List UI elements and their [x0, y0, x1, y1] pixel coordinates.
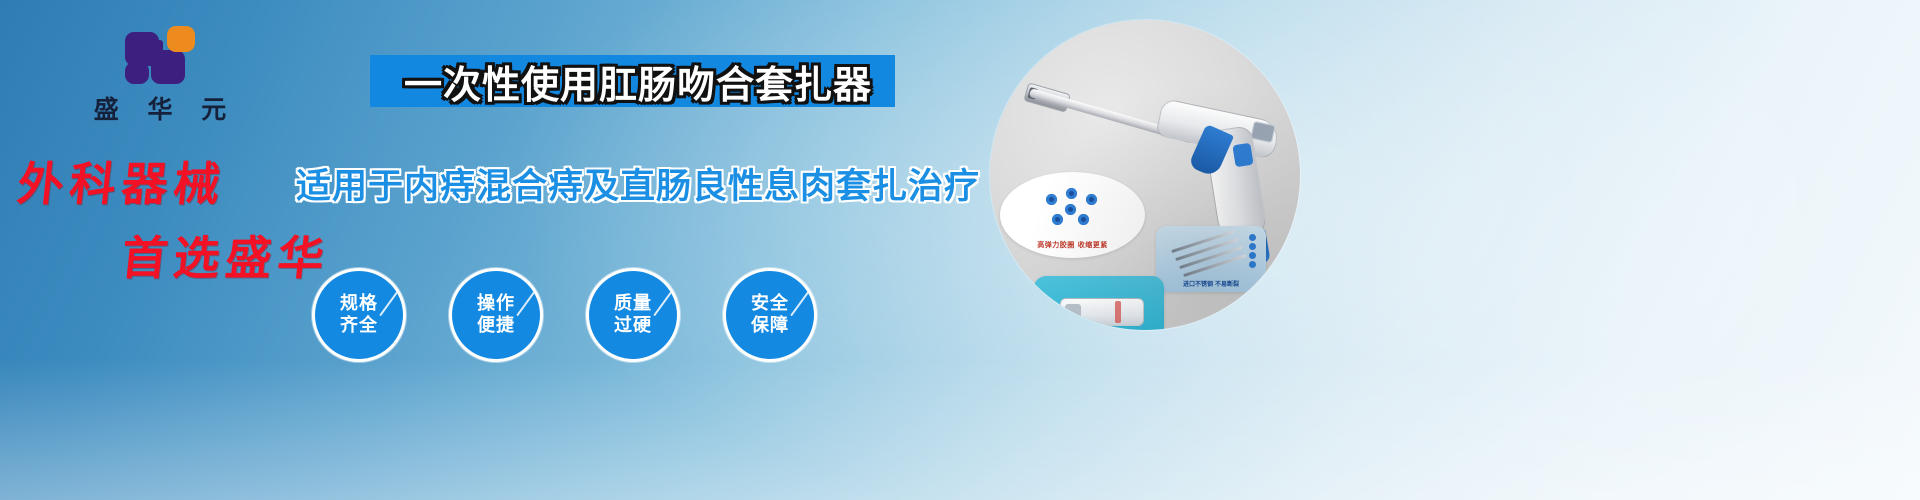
feature-badge-2-line1: 操作: [477, 293, 515, 315]
subtitle: 适用于内痔混合痔及直肠良性息肉套扎治疗: [296, 158, 916, 209]
feature-badge-3[interactable]: 质量 过硬: [586, 268, 680, 362]
brand-logo[interactable]: 盛 华 元: [62, 26, 258, 126]
feature-badge-4-line1: 安全: [751, 293, 789, 315]
shenghuayuan-block-logo-icon: [125, 26, 195, 84]
promo-banner: 盛 华 元 外科器械 首选盛华 一次性使用肛肠吻合套扎器 适用于内痔混合痔及直肠…: [0, 0, 1920, 500]
background-bottom-glow: [0, 360, 1920, 500]
feature-badge-3-line2: 过硬: [614, 315, 652, 337]
feature-badge-1-line1: 规格: [340, 293, 378, 315]
feature-badge-2[interactable]: 操作 便捷: [449, 268, 543, 362]
brand-name: 盛 华 元: [62, 90, 258, 126]
page-title: 一次性使用肛肠吻合套扎器: [378, 54, 898, 108]
feature-badge-1-line2: 齐全: [340, 315, 378, 337]
device-button-icon: [1232, 143, 1253, 168]
feature-badge-2-line2: 便捷: [477, 315, 515, 337]
inset-rings-caption: 高弹力胶圈 收缩更紧: [1000, 240, 1145, 250]
feature-badge-list: 规格 齐全 操作 便捷 质量 过硬 安全 保障: [312, 268, 817, 362]
feature-badge-4-line2: 保障: [751, 315, 789, 337]
feature-badge-3-line1: 质量: [614, 293, 652, 315]
product-photo[interactable]: 高弹力胶圈 收缩更紧 进口不锈钢 不易断裂: [990, 20, 1300, 330]
inset-ligation-rings: 高弹力胶圈 收缩更紧: [1000, 172, 1145, 258]
inset-tube-cartridge: [1034, 276, 1164, 330]
inset-needle-set: 进口不锈钢 不易断裂: [1156, 226, 1266, 292]
feature-badge-4[interactable]: 安全 保障: [723, 268, 817, 362]
feature-badge-1[interactable]: 规格 齐全: [312, 268, 406, 362]
inset-needles-caption: 进口不锈钢 不易断裂: [1156, 279, 1266, 288]
